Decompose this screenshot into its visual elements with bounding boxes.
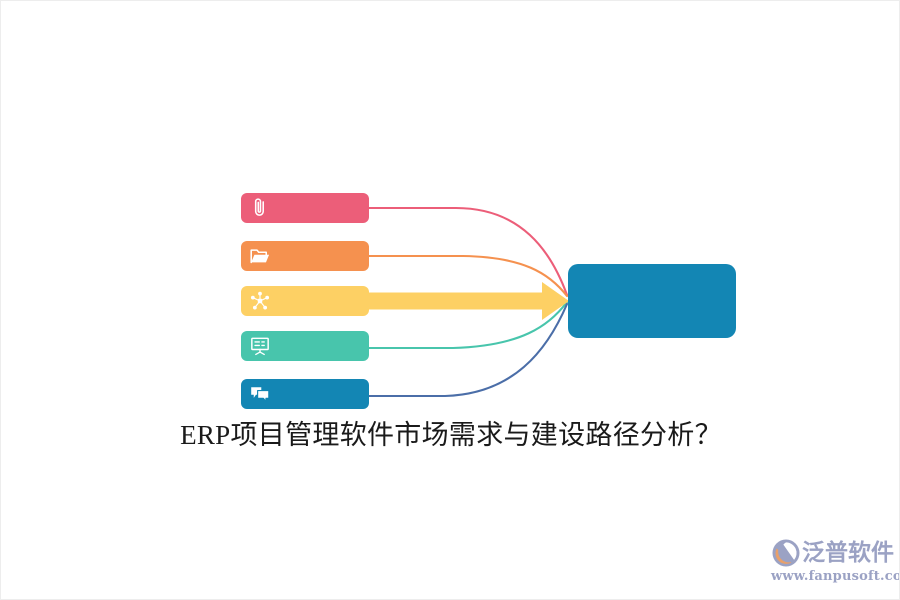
connector-curve-2 bbox=[369, 256, 567, 296]
connector-curve-5 bbox=[369, 304, 567, 396]
connector-layer bbox=[1, 1, 900, 600]
page-title: ERP项目管理软件市场需求与建设路径分析？ bbox=[1, 418, 900, 452]
paperclip-icon bbox=[249, 197, 271, 219]
watermark-url: www.fanpusoft.com bbox=[771, 569, 897, 584]
diagram-canvas: ERP项目管理软件市场需求与建设路径分析？ 泛普软件 www.fanpusoft… bbox=[0, 0, 900, 600]
funnel-item-1[interactable] bbox=[241, 193, 369, 223]
watermark: 泛普软件 www.fanpusoft.com bbox=[771, 535, 897, 593]
presentation-board-icon bbox=[249, 335, 271, 357]
connector-arrow-3 bbox=[369, 282, 569, 320]
watermark-brand: 泛普软件 bbox=[802, 538, 894, 568]
fanpu-logo-icon bbox=[771, 538, 801, 568]
funnel-item-4[interactable] bbox=[241, 331, 369, 361]
target-node[interactable] bbox=[568, 264, 736, 338]
chat-bubbles-icon bbox=[249, 383, 271, 405]
funnel-item-2[interactable] bbox=[241, 241, 369, 271]
network-hub-icon bbox=[249, 290, 271, 312]
connector-curve-1 bbox=[369, 208, 567, 295]
funnel-item-5[interactable] bbox=[241, 379, 369, 409]
open-folder-icon bbox=[249, 245, 271, 267]
funnel-item-3[interactable] bbox=[241, 286, 369, 316]
